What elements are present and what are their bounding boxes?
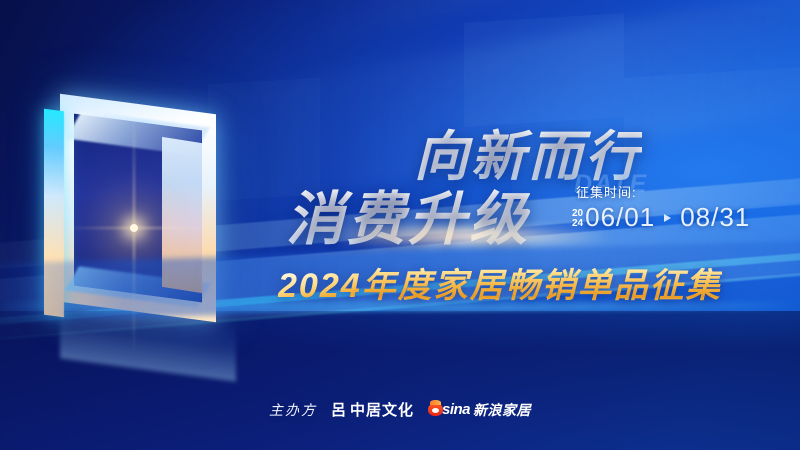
- sina-name: 新浪家居: [473, 400, 531, 420]
- year-top: 20: [572, 209, 583, 219]
- year-stacked: 20 24: [572, 207, 583, 229]
- subtitle-bar: 2024年度家居畅销单品征集: [0, 252, 800, 310]
- subtitle-text: 2024年度家居畅销单品征集: [278, 258, 722, 307]
- date-range-row: 20 24 06/01 08/31: [572, 202, 750, 233]
- subtitle-year: 2024: [278, 267, 362, 305]
- footer-sponsors: 主办方 呂 中居文化 sina 新浪家居: [0, 399, 800, 420]
- promo-banner: 向新而行 消费升级 DATE 征集时间: 20 24 06/01 08/31 2…: [0, 0, 800, 450]
- date-end: 08/31: [680, 202, 750, 233]
- sina-eye-icon: [428, 403, 443, 416]
- zhongju-logo-icon: 呂: [331, 399, 346, 420]
- date-start: 06/01: [585, 202, 655, 233]
- arrow-right-icon: [664, 214, 671, 222]
- sina-wordmark: sina: [442, 401, 470, 418]
- sponsor-sina: sina 新浪家居: [428, 400, 531, 420]
- organizer-label: 主办方: [269, 400, 317, 420]
- headline-glow-streak: [330, 228, 610, 244]
- date-label: 征集时间:: [576, 182, 637, 201]
- year-bottom: 24: [572, 219, 583, 229]
- zhongju-name: 中居文化: [350, 399, 414, 420]
- sponsor-zhongju: 呂 中居文化: [331, 399, 414, 420]
- subtitle-body: 年度家居畅销单品征集: [362, 267, 722, 305]
